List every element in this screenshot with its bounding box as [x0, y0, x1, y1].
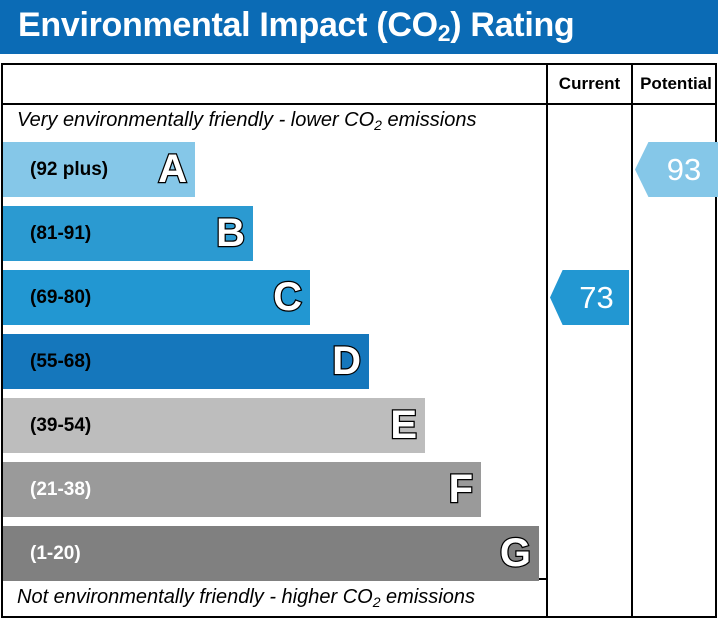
current-rating-value: 73 — [565, 280, 613, 316]
rating-band-b: (81-91) B — [3, 206, 253, 261]
rating-band-g-letter: G — [500, 533, 531, 573]
column-header-potential: Potential — [633, 74, 718, 94]
caption-top: Very environmentally friendly - lower CO… — [17, 109, 476, 132]
caption-bottom-subscript: 2 — [373, 594, 381, 610]
current-column-divider — [546, 65, 548, 616]
header-row-divider — [3, 103, 715, 105]
potential-column-divider — [631, 65, 633, 616]
rating-band-d-range: (55-68) — [30, 351, 91, 373]
rating-band-e: (39-54) E — [3, 398, 425, 453]
rating-band-a: (92 plus) A — [3, 142, 195, 197]
page-title-prefix: Environmental Impact (CO — [18, 6, 438, 44]
chart-header-bar: Environmental Impact (CO2) Rating — [0, 0, 718, 54]
page-title-suffix: ) Rating — [450, 6, 574, 44]
rating-band-f-letter: F — [449, 469, 473, 509]
caption-bottom: Not environmentally friendly - higher CO… — [17, 586, 475, 609]
ratings-table: Current Potential Very environmentally f… — [1, 63, 717, 618]
rating-band-d-letter: D — [332, 341, 361, 381]
rating-band-c-letter: C — [273, 277, 302, 317]
caption-top-prefix: Very environmentally friendly - lower CO — [17, 109, 374, 131]
rating-band-d: (55-68) D — [3, 334, 369, 389]
column-header-current: Current — [548, 74, 631, 94]
potential-rating-value: 93 — [653, 152, 701, 188]
rating-band-f: (21-38) F — [3, 462, 481, 517]
rating-band-a-letter: A — [158, 149, 187, 189]
rating-band-c-range: (69-80) — [30, 287, 91, 309]
rating-band-g-range: (1-20) — [30, 543, 81, 565]
page-title-subscript: 2 — [438, 20, 451, 46]
caption-top-subscript: 2 — [374, 117, 382, 133]
potential-rating-arrow: 93 — [635, 142, 718, 197]
page-title: Environmental Impact (CO2) Rating — [18, 6, 574, 45]
rating-band-a-range: (92 plus) — [30, 159, 108, 181]
caption-bottom-suffix: emissions — [381, 586, 475, 608]
rating-band-e-letter: E — [390, 405, 417, 445]
caption-bottom-prefix: Not environmentally friendly - higher CO — [17, 586, 373, 608]
rating-band-b-letter: B — [216, 213, 245, 253]
epc-environmental-impact-chart: Environmental Impact (CO2) Rating Curren… — [0, 0, 718, 619]
rating-band-e-range: (39-54) — [30, 415, 91, 437]
rating-band-b-range: (81-91) — [30, 223, 91, 245]
rating-band-c: (69-80) C — [3, 270, 310, 325]
rating-band-g: (1-20) G — [3, 526, 539, 581]
current-rating-arrow: 73 — [550, 270, 629, 325]
rating-band-f-range: (21-38) — [30, 479, 91, 501]
caption-top-suffix: emissions — [382, 109, 476, 131]
